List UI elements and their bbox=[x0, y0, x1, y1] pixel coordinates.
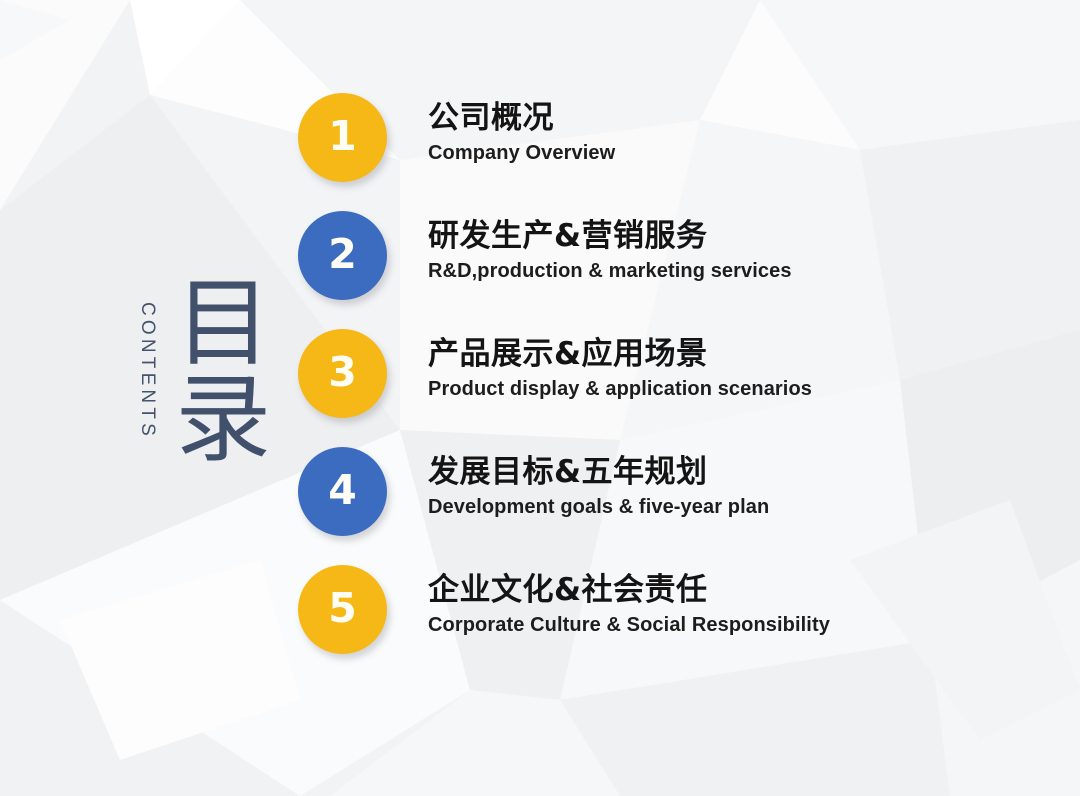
agenda-item-3[interactable]: 3 产品展示&应用场景 Product display & applicatio… bbox=[298, 329, 1058, 447]
agenda-title-en-3: Product display & application scenarios bbox=[428, 377, 812, 401]
agenda-number-5: 5 bbox=[328, 588, 357, 632]
agenda-number-3: 3 bbox=[328, 352, 357, 396]
agenda-text-2: 研发生产&营销服务 R&D,production & marketing ser… bbox=[428, 217, 792, 283]
agenda-number-2: 2 bbox=[328, 234, 357, 278]
agenda-text-3: 产品展示&应用场景 Product display & application … bbox=[428, 335, 812, 401]
agenda-title-cn-1: 公司概况 bbox=[428, 99, 615, 137]
agenda-number-4: 4 bbox=[328, 470, 357, 514]
agenda-text-4: 发展目标&五年规划 Development goals & five-year … bbox=[428, 453, 769, 519]
agenda-number-badge-3: 3 bbox=[298, 329, 387, 418]
agenda-list: 1 公司概况 Company Overview 2 研发生产&营销服务 R&D,… bbox=[298, 93, 1058, 683]
agenda-item-4[interactable]: 4 发展目标&五年规划 Development goals & five-yea… bbox=[298, 447, 1058, 565]
agenda-item-1[interactable]: 1 公司概况 Company Overview bbox=[298, 93, 1058, 211]
agenda-number-1: 1 bbox=[328, 116, 357, 160]
presentation-slide: CONTENTS 目录 1 公司概况 Company Overview 2 研发… bbox=[0, 0, 1080, 796]
agenda-item-2[interactable]: 2 研发生产&营销服务 R&D,production & marketing s… bbox=[298, 211, 1058, 329]
agenda-number-badge-4: 4 bbox=[298, 447, 387, 536]
agenda-title-en-5: Corporate Culture & Social Responsibilit… bbox=[428, 613, 830, 637]
agenda-title-en-2: R&D,production & marketing services bbox=[428, 259, 792, 283]
agenda-title-en-4: Development goals & five-year plan bbox=[428, 495, 769, 519]
agenda-title-cn-2: 研发生产&营销服务 bbox=[428, 217, 792, 255]
agenda-item-5[interactable]: 5 企业文化&社会责任 Corporate Culture & Social R… bbox=[298, 565, 1058, 683]
contents-label-en: CONTENTS bbox=[136, 281, 158, 461]
agenda-title-en-1: Company Overview bbox=[428, 141, 615, 165]
agenda-number-badge-5: 5 bbox=[298, 565, 387, 654]
contents-label-cn: 目录 bbox=[162, 272, 266, 464]
agenda-number-badge-2: 2 bbox=[298, 211, 387, 300]
agenda-title-cn-5: 企业文化&社会责任 bbox=[428, 571, 830, 609]
agenda-title-cn-3: 产品展示&应用场景 bbox=[428, 335, 812, 373]
contents-title-block: CONTENTS 目录 bbox=[104, 280, 269, 480]
agenda-number-badge-1: 1 bbox=[298, 93, 387, 182]
agenda-title-cn-4: 发展目标&五年规划 bbox=[428, 453, 769, 491]
agenda-text-1: 公司概况 Company Overview bbox=[428, 99, 615, 165]
agenda-text-5: 企业文化&社会责任 Corporate Culture & Social Res… bbox=[428, 571, 830, 637]
